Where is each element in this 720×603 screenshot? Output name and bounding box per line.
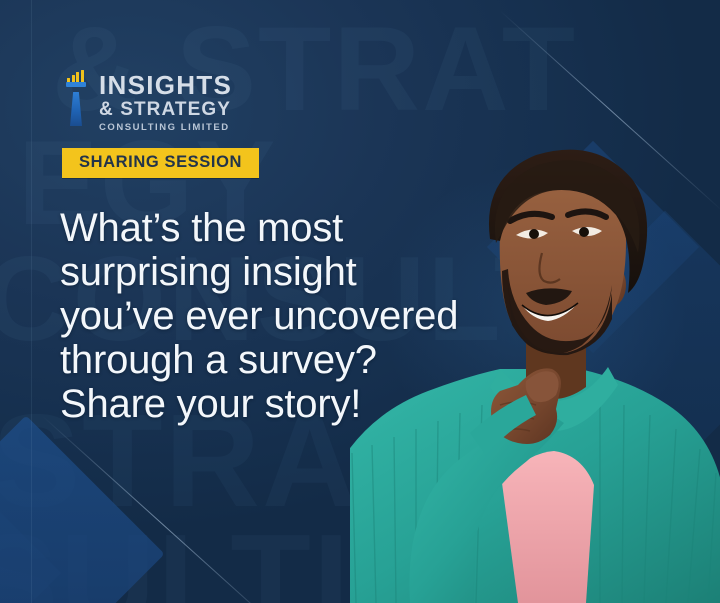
promo-poster: & STRAT EGY CONSULTI STRA SULTING [0,0,720,603]
headline-line: What’s the most [60,206,458,250]
brand-name-line-1: INSIGHTS [99,72,232,99]
headline-line: you’ve ever uncovered [60,294,458,338]
headline-line: through a survey? [60,338,458,382]
diamond-shape [0,415,165,603]
headline-question: What’s the most surprising insight you’v… [60,206,458,426]
lighthouse-body [70,92,82,126]
vertical-rule [31,0,32,603]
sharing-session-badge: SHARING SESSION [62,148,259,178]
headline-line: surprising insight [60,250,458,294]
headline-line: Share your story! [60,382,458,426]
diagonal-line [41,415,287,603]
brand-logo: INSIGHTS & STRATEGY CONSULTING LIMITED [62,70,232,134]
lighthouse-bar-chart-logo-icon [62,70,90,126]
brand-name-line-3: CONSULTING LIMITED [99,123,232,133]
diamond-shape [0,467,61,603]
brand-wordmark: INSIGHTS & STRATEGY CONSULTING LIMITED [99,70,232,134]
lighthouse-cap [66,82,86,87]
brand-name-line-2: & STRATEGY [99,100,232,121]
